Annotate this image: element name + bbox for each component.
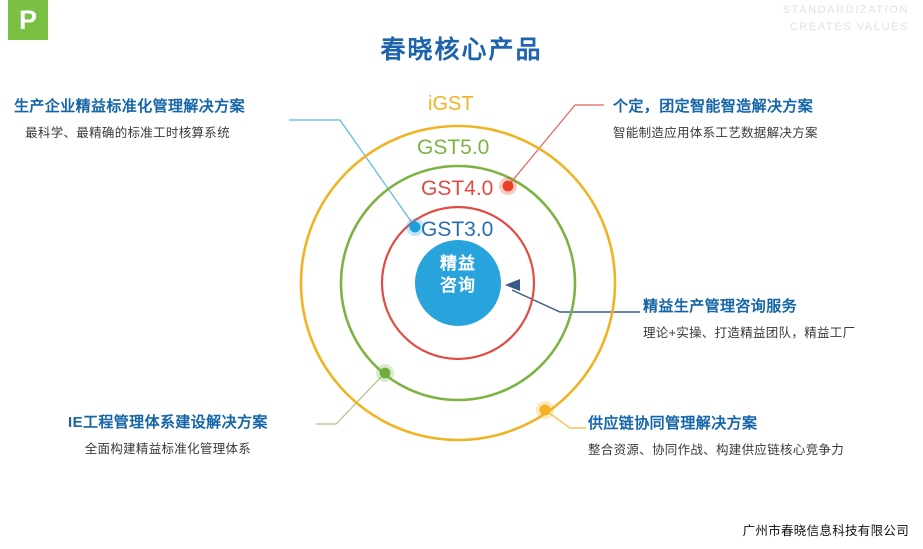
core-label-line-2: 咨询 [410, 275, 506, 297]
callout-top-left-title: 生产企业精益标准化管理解决方案 [14, 95, 245, 116]
callout-bottom-right-title: 供应链协同管理解决方案 [588, 412, 844, 433]
connector-arrow-head [505, 279, 520, 291]
connector-top-right [508, 105, 604, 186]
core-label-line-1: 精益 [410, 253, 506, 275]
callout-bottom-left: IE工程管理体系建设解决方案 全面构建精益标准化管理体系 [68, 411, 268, 457]
core-label: 精益 咨询 [410, 253, 506, 313]
callout-middle-right-title: 精益生产管理咨询服务 [643, 295, 855, 316]
callout-top-right: 个定，团定智能智造解决方案 智能制造应用体系工艺数据解决方案 [613, 95, 818, 141]
slide-canvas: P STANDARDIZATION CREATES VALUES 春晓核心产品 [0, 0, 923, 549]
ring-label-igst: iGST [428, 93, 474, 116]
callout-bottom-right-subtitle: 整合资源、协同作战、构建供应链核心竞争力 [588, 439, 844, 458]
ring-label-gst50: GST5.0 [417, 136, 489, 160]
callout-bottom-left-subtitle: 全面构建精益标准化管理体系 [68, 438, 268, 457]
callout-middle-right-subtitle: 理论+实操、打造精益团队，精益工厂 [643, 322, 855, 341]
callout-top-right-title: 个定，团定智能智造解决方案 [613, 95, 818, 116]
callout-top-right-subtitle: 智能制造应用体系工艺数据解决方案 [613, 122, 818, 141]
callout-top-left-subtitle: 最科学、最精确的标准工时核算系统 [14, 122, 245, 141]
callout-top-left: 生产企业精益标准化管理解决方案 最科学、最精确的标准工时核算系统 [14, 95, 245, 141]
callout-bottom-left-title: IE工程管理体系建设解决方案 [68, 411, 268, 432]
callout-bottom-right: 供应链协同管理解决方案 整合资源、协同作战、构建供应链核心竞争力 [588, 412, 844, 458]
callout-middle-right: 精益生产管理咨询服务 理论+实操、打造精益团队，精益工厂 [643, 295, 855, 341]
node-green[interactable] [380, 368, 391, 379]
node-red[interactable] [503, 181, 514, 192]
ring-label-gst40: GST4.0 [421, 177, 493, 201]
node-yellow[interactable] [540, 405, 551, 416]
connector-top-left [289, 120, 415, 227]
ring-label-gst30: GST3.0 [421, 218, 493, 242]
footer-company: 广州市春晓信息科技有限公司 [743, 520, 909, 539]
node-blue[interactable] [410, 222, 421, 233]
